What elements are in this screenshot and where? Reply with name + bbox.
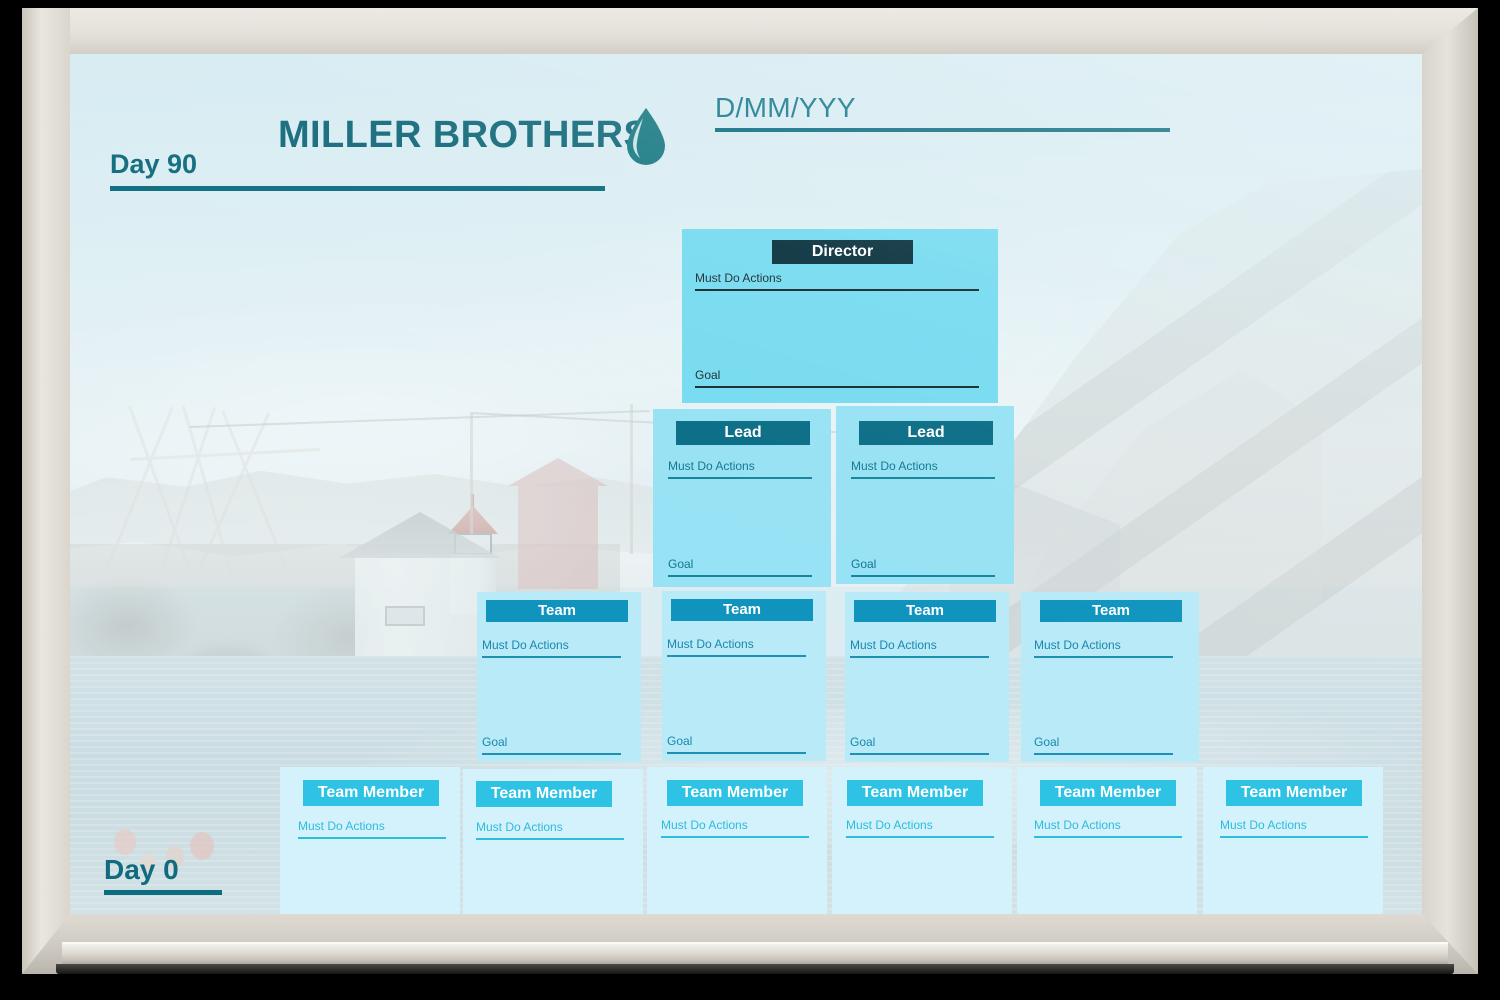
goal-label: Goal xyxy=(851,557,995,572)
card-member[interactable]: Team MemberMust Do ActionsGoal xyxy=(280,767,460,914)
screenshot-root: MILLER BROTHERS D/MM/YYY Day 90 xyxy=(0,0,1500,1000)
field-must-do-actions[interactable]: Must Do Actions xyxy=(695,271,979,291)
field-goal[interactable]: Goal xyxy=(668,557,812,577)
card-title-member: Team Member xyxy=(1040,780,1176,806)
card-title-member: Team Member xyxy=(847,780,983,806)
card-body: LeadMust Do ActionsGoal xyxy=(653,409,831,587)
goal-underline xyxy=(695,386,979,388)
goal-label: Goal xyxy=(667,734,806,749)
field-must-do-actions[interactable]: Must Do Actions xyxy=(1034,638,1173,658)
must-do-actions-label: Must Do Actions xyxy=(850,638,989,653)
field-goal[interactable]: Goal xyxy=(851,557,995,577)
board-surface: MILLER BROTHERS D/MM/YYY Day 90 xyxy=(70,54,1422,914)
card-team[interactable]: TeamMust Do ActionsGoal xyxy=(845,592,1009,762)
water-droplet-icon xyxy=(623,106,669,168)
field-must-do-actions[interactable]: Must Do Actions xyxy=(846,818,994,838)
field-goal[interactable]: Goal xyxy=(1034,735,1173,755)
card-body: LeadMust Do ActionsGoal xyxy=(836,406,1014,584)
card-member[interactable]: Team MemberMust Do ActionsGoal xyxy=(1017,767,1197,914)
card-lead[interactable]: LeadMust Do ActionsGoal xyxy=(836,406,1014,584)
card-body: TeamMust Do ActionsGoal xyxy=(845,592,1009,762)
card-title-member: Team Member xyxy=(667,780,803,806)
frame-edge-top xyxy=(22,8,1478,54)
goal-underline xyxy=(668,575,812,577)
card-member[interactable]: Team MemberMust Do ActionsGoal xyxy=(463,769,643,914)
field-must-do-actions[interactable]: Must Do Actions xyxy=(668,459,812,479)
goal-label: Goal xyxy=(850,735,989,750)
field-goal[interactable]: Goal xyxy=(695,368,979,388)
card-member[interactable]: Team MemberMust Do ActionsGoal xyxy=(1203,767,1383,914)
must-do-actions-label: Must Do Actions xyxy=(661,818,809,833)
card-member[interactable]: Team MemberMust Do ActionsGoal xyxy=(832,767,1012,914)
card-director[interactable]: DirectorMust Do ActionsGoal xyxy=(682,229,998,403)
must-do-actions-underline xyxy=(846,836,994,838)
must-do-actions-label: Must Do Actions xyxy=(298,819,446,834)
day-0-marker: Day 0 xyxy=(104,854,244,895)
card-lead[interactable]: LeadMust Do ActionsGoal xyxy=(653,409,831,587)
card-title-member: Team Member xyxy=(476,781,612,807)
card-title-team: Team xyxy=(671,599,813,621)
must-do-actions-underline xyxy=(695,289,979,291)
day-0-label: Day 0 xyxy=(104,854,244,886)
card-body: Team MemberMust Do ActionsGoal xyxy=(647,767,827,914)
goal-underline xyxy=(1034,753,1173,755)
board-content: MILLER BROTHERS D/MM/YYY Day 90 xyxy=(70,54,1422,914)
card-team[interactable]: TeamMust Do ActionsGoal xyxy=(662,591,826,761)
frame-edge-right xyxy=(1422,8,1478,974)
card-body: Team MemberMust Do ActionsGoal xyxy=(1203,767,1383,914)
card-member[interactable]: Team MemberMust Do ActionsGoal xyxy=(647,767,827,914)
field-must-do-actions[interactable]: Must Do Actions xyxy=(1220,818,1368,838)
card-title-member: Team Member xyxy=(1226,780,1362,806)
date-underline xyxy=(715,128,1170,132)
field-goal[interactable]: Goal xyxy=(850,735,989,755)
must-do-actions-underline xyxy=(476,838,624,840)
card-title-member: Team Member xyxy=(303,780,439,806)
must-do-actions-underline xyxy=(667,655,806,657)
date-field[interactable]: D/MM/YYY xyxy=(715,92,1170,132)
goal-label: Goal xyxy=(695,368,979,383)
must-do-actions-underline xyxy=(668,477,812,479)
must-do-actions-label: Must Do Actions xyxy=(476,820,624,835)
goal-label: Goal xyxy=(668,557,812,572)
must-do-actions-underline xyxy=(298,837,446,839)
field-must-do-actions[interactable]: Must Do Actions xyxy=(298,819,446,839)
must-do-actions-label: Must Do Actions xyxy=(482,638,621,653)
whiteboard-frame: MILLER BROTHERS D/MM/YYY Day 90 xyxy=(22,8,1478,974)
card-body: TeamMust Do ActionsGoal xyxy=(1021,592,1199,762)
pen-tray-lip xyxy=(56,964,1454,974)
field-must-do-actions[interactable]: Must Do Actions xyxy=(476,820,624,840)
goal-label: Goal xyxy=(482,735,621,750)
must-do-actions-label: Must Do Actions xyxy=(846,818,994,833)
day-90-marker: Day 90 xyxy=(110,149,610,191)
must-do-actions-underline xyxy=(851,477,995,479)
day-90-label: Day 90 xyxy=(110,149,610,180)
must-do-actions-label: Must Do Actions xyxy=(1034,818,1182,833)
field-must-do-actions[interactable]: Must Do Actions xyxy=(851,459,995,479)
goal-underline xyxy=(850,753,989,755)
card-body: TeamMust Do ActionsGoal xyxy=(477,592,641,762)
must-do-actions-label: Must Do Actions xyxy=(668,459,812,474)
must-do-actions-underline xyxy=(482,656,621,658)
card-team[interactable]: TeamMust Do ActionsGoal xyxy=(477,592,641,762)
card-body: Team MemberMust Do ActionsGoal xyxy=(832,767,1012,914)
field-goal[interactable]: Goal xyxy=(482,735,621,755)
card-body: Team MemberMust Do ActionsGoal xyxy=(280,767,460,914)
must-do-actions-label: Must Do Actions xyxy=(695,271,979,286)
field-goal[interactable]: Goal xyxy=(667,734,806,754)
must-do-actions-underline xyxy=(1034,656,1173,658)
must-do-actions-label: Must Do Actions xyxy=(1034,638,1173,653)
field-must-do-actions[interactable]: Must Do Actions xyxy=(850,638,989,658)
card-title-team: Team xyxy=(854,600,996,622)
day-90-underline xyxy=(110,186,605,191)
card-title-team: Team xyxy=(486,600,628,622)
must-do-actions-label: Must Do Actions xyxy=(851,459,995,474)
must-do-actions-underline xyxy=(661,836,809,838)
date-value[interactable]: D/MM/YYY xyxy=(715,92,1170,124)
field-must-do-actions[interactable]: Must Do Actions xyxy=(482,638,621,658)
field-must-do-actions[interactable]: Must Do Actions xyxy=(667,637,806,657)
field-must-do-actions[interactable]: Must Do Actions xyxy=(1034,818,1182,838)
frame-edge-left xyxy=(22,8,70,974)
card-body: Team MemberMust Do ActionsGoal xyxy=(463,769,643,914)
card-title-director: Director xyxy=(772,240,913,264)
card-team[interactable]: TeamMust Do ActionsGoal xyxy=(1021,592,1199,762)
goal-label: Goal xyxy=(1034,735,1173,750)
must-do-actions-underline xyxy=(1034,836,1182,838)
goal-underline xyxy=(667,752,806,754)
must-do-actions-underline xyxy=(850,656,989,658)
card-title-lead: Lead xyxy=(676,421,810,445)
must-do-actions-label: Must Do Actions xyxy=(1220,818,1368,833)
must-do-actions-label: Must Do Actions xyxy=(667,637,806,652)
card-title-team: Team xyxy=(1040,600,1182,622)
card-body: DirectorMust Do ActionsGoal xyxy=(682,229,998,403)
card-title-lead: Lead xyxy=(859,421,993,445)
goal-underline xyxy=(482,753,621,755)
must-do-actions-underline xyxy=(1220,836,1368,838)
card-body: TeamMust Do ActionsGoal xyxy=(662,591,826,761)
card-body: Team MemberMust Do ActionsGoal xyxy=(1017,767,1197,914)
day-0-underline xyxy=(104,890,222,895)
goal-underline xyxy=(851,575,995,577)
field-must-do-actions[interactable]: Must Do Actions xyxy=(661,818,809,838)
